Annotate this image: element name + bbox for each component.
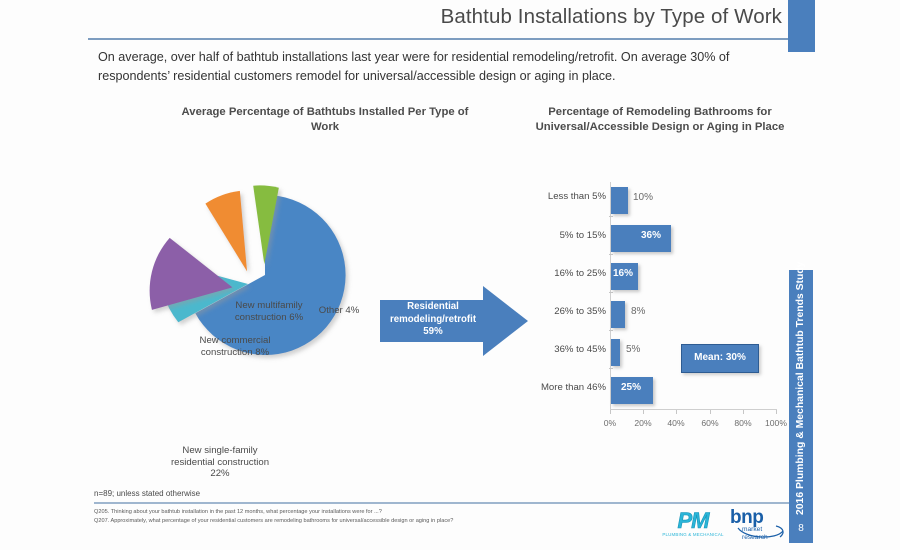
bar-category-label-more-than-46: More than 46% — [528, 382, 606, 393]
x-tick-label-20: 20% — [628, 418, 658, 428]
mean-callout-label: Mean: 30% — [682, 345, 758, 371]
slide-header: Bathtub Installations by Type of Work — [0, 0, 900, 42]
slide: Bathtub Installations by Type of Work On… — [0, 0, 900, 550]
page-number-badge: 8 — [789, 515, 813, 543]
bar-category-label-5-to-15: 5% to 15% — [534, 230, 606, 241]
bar-value-5-to-15: 36% — [641, 230, 661, 241]
study-name-sidebar: 2016 Plumbing & Mechanical Bathtub Trend… — [789, 270, 813, 515]
x-tick — [610, 410, 611, 414]
cat-tick — [609, 254, 613, 255]
bar-value-26-to-35: 8% — [631, 306, 645, 317]
pm-logo-tagline: PLUMBING & MECHANICAL — [662, 532, 724, 537]
sample-size-note: n=89; unless stated otherwise — [94, 489, 200, 498]
pie-label-new-multifamily: New multifamily construction 6% — [220, 300, 318, 323]
x-tick — [643, 410, 644, 414]
pie-label-other: Other 4% — [313, 305, 365, 317]
question-note-q207: Q207. Approximately, what percentage of … — [94, 518, 453, 524]
bar-category-label-36-to-45: 36% to 45% — [534, 344, 606, 355]
arrow-line-3: 59% — [423, 326, 442, 337]
slide-subtitle: On average, over half of bathtub install… — [98, 48, 788, 86]
x-tick-label-0: 0% — [595, 418, 625, 428]
mean-callout-box: Mean: 30% — [681, 344, 759, 373]
bnp-logo: bnp market research — [730, 508, 788, 542]
bar-value-more-than-46: 25% — [621, 382, 641, 393]
bar-chart-value-axis — [610, 409, 777, 410]
cat-tick — [609, 292, 613, 293]
x-tick-label-40: 40% — [661, 418, 691, 428]
arrow-callout-label: Residential remodeling/retrofit 59% — [384, 301, 482, 339]
x-tick — [676, 410, 677, 414]
pie-label-new-single-family: New single-family residential constructi… — [165, 445, 275, 480]
cat-tick — [609, 368, 613, 369]
footer-divider — [94, 502, 789, 504]
header-accent-tab — [788, 0, 815, 52]
bar-less-than-5 — [611, 187, 628, 214]
bar-36-to-45 — [611, 339, 620, 366]
x-tick — [710, 410, 711, 414]
bar-26-to-35 — [611, 301, 625, 328]
arrow-line-2: remodeling/retrofit — [390, 314, 476, 325]
study-name-label: 2016 Plumbing & Mechanical Bathtub Trend… — [789, 270, 813, 515]
question-note-q205: Q205. Thinking about your bathtub instal… — [94, 509, 382, 515]
bar-value-16-to-25: 16% — [613, 268, 633, 279]
arrow-line-1: Residential — [407, 301, 459, 312]
bar-category-label-26-to-35: 26% to 35% — [534, 306, 606, 317]
cat-tick — [609, 330, 613, 331]
pie-slice-new-multifamily — [204, 190, 264, 278]
pm-logo-letters: PM — [662, 509, 724, 533]
page-title: Bathtub Installations by Type of Work — [441, 5, 782, 29]
x-tick — [776, 410, 777, 414]
cat-tick — [609, 216, 613, 217]
bar-value-36-to-45: 5% — [626, 344, 640, 355]
bar-chart-title: Percentage of Remodeling Bathrooms for U… — [520, 105, 800, 135]
bnp-swoosh-icon — [736, 525, 786, 541]
pie-chart-title: Average Percentage of Bathtubs Installed… — [175, 105, 475, 135]
pie-chart: New multifamily construction 6% New comm… — [85, 145, 405, 385]
x-tick-label-60: 60% — [695, 418, 725, 428]
bar-category-label-16-to-25: 16% to 25% — [534, 268, 606, 279]
x-tick-label-100: 100% — [761, 418, 791, 428]
bar-value-less-than-5: 10% — [633, 192, 653, 203]
bar-category-label-less-than-5: Less than 5% — [534, 191, 606, 202]
pie-label-new-commercial: New commercial construction 8% — [180, 335, 290, 358]
header-divider — [88, 38, 788, 40]
pm-logo: PM PLUMBING & MECHANICAL — [662, 509, 724, 541]
x-tick-label-80: 80% — [728, 418, 758, 428]
x-tick — [743, 410, 744, 414]
